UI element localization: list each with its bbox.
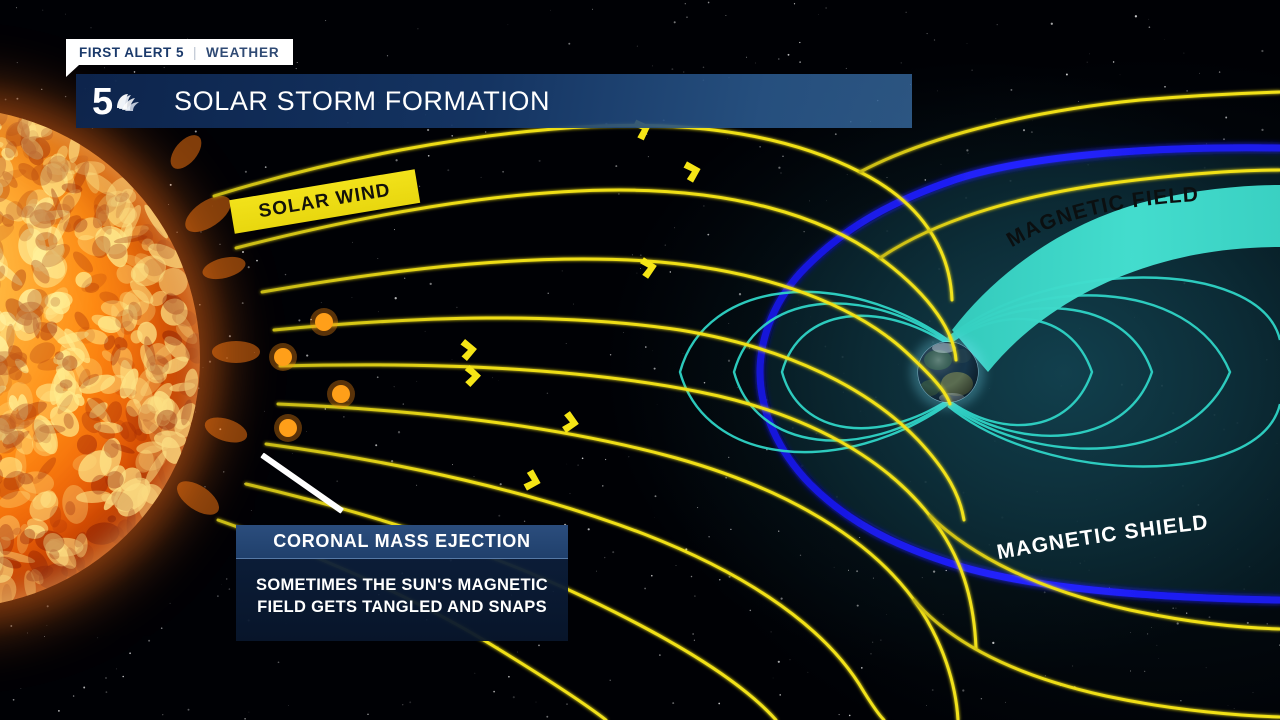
callout-title: CORONAL MASS EJECTION [273,531,530,552]
title-bar: 5 SOLAR STORM FORMATION [76,74,912,128]
tab-separator: | [193,45,197,60]
solar-storm-graphic: SOLAR WIND MAGNETIC FIELD MAGNETIC SHIEL… [0,0,1280,720]
callout-body: SOMETIMES THE SUN'S MAGNETIC FIELD GETS … [236,559,568,641]
callout-header: CORONAL MASS EJECTION [236,525,568,559]
first-alert-tab[interactable]: FIRST ALERT 5 | WEATHER [66,39,293,65]
callout-line-1: SOMETIMES THE SUN'S MAGNETIC [246,575,558,597]
sun [0,78,230,638]
page-title: SOLAR STORM FORMATION [174,86,550,117]
coronal-mass-ejection-callout: CORONAL MASS EJECTION SOMETIMES THE SUN'… [236,525,568,641]
tab-primary-label: FIRST ALERT 5 [79,45,184,60]
nbc-5-peacock-logo: 5 [92,83,158,119]
callout-line-2: FIELD GETS TANGLED AND SNAPS [246,597,558,619]
tab-secondary-label: WEATHER [206,45,280,60]
svg-text:5: 5 [92,83,113,119]
